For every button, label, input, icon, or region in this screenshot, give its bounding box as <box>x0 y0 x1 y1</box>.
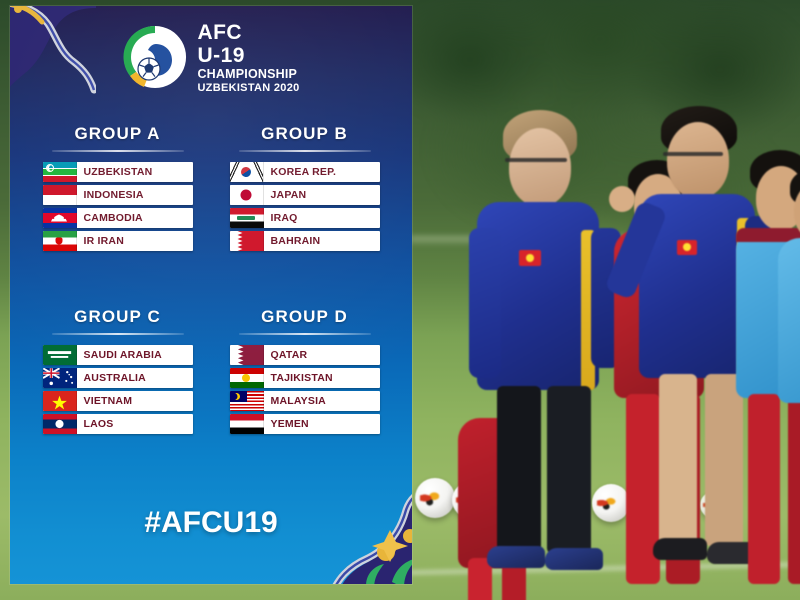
group-d-title: GROUP D <box>261 307 348 327</box>
flag-uzbekistan-icon <box>43 162 77 182</box>
team-name: BAHRAIN <box>264 235 321 247</box>
group-c-title: GROUP C <box>74 307 161 327</box>
screenshot-root: AFC U-19 CHAMPIONSHIP UZBEKISTAN 2020 GR… <box>0 0 800 600</box>
team-name: YEMEN <box>264 418 309 430</box>
group-draw-grid: GROUP A UZBEKISTAN INDONESIA CAMBODIA <box>10 124 412 434</box>
team-row[interactable]: BAHRAIN <box>230 231 380 251</box>
team-row[interactable]: YEMEN <box>230 414 380 434</box>
team-name: SAUDI ARABIA <box>77 349 162 361</box>
flag-cambodia-icon <box>43 208 77 228</box>
flag-malaysia-icon <box>230 391 264 411</box>
group-a-team-list: UZBEKISTAN INDONESIA CAMBODIA IR IRAN <box>43 162 193 251</box>
group-d: GROUP D QATAR TAJIKISTAN MALAYSIA <box>211 307 398 434</box>
team-name: JAPAN <box>264 189 307 201</box>
football <box>415 478 455 518</box>
flag-south-korea-icon <box>230 162 264 182</box>
team-name: KOREA REP. <box>264 166 337 178</box>
team-name: UZBEKISTAN <box>77 166 153 178</box>
group-d-team-list: QATAR TAJIKISTAN MALAYSIA YEMEN <box>230 345 380 434</box>
team-row[interactable]: JAPAN <box>230 185 380 205</box>
team-row[interactable]: QATAR <box>230 345 380 365</box>
team-name: IR IRAN <box>77 235 124 247</box>
flag-japan-icon <box>230 185 264 205</box>
football <box>592 484 630 522</box>
flag-qatar-icon <box>230 345 264 365</box>
team-row[interactable]: VIETNAM <box>43 391 193 411</box>
team-row[interactable]: UZBEKISTAN <box>43 162 193 182</box>
team-row[interactable]: TAJIKISTAN <box>230 368 380 388</box>
logo-line-u19: U-19 <box>197 45 299 66</box>
flag-iraq-icon <box>230 208 264 228</box>
team-name: QATAR <box>264 349 308 361</box>
group-a-title: GROUP A <box>74 124 160 144</box>
afc-u19-emblem-icon <box>122 24 188 90</box>
tournament-logo-text: AFC U-19 CHAMPIONSHIP UZBEKISTAN 2020 <box>197 20 299 94</box>
team-row[interactable]: LAOS <box>43 414 193 434</box>
team-name: AUSTRALIA <box>77 372 146 384</box>
flag-vietnam-icon <box>43 391 77 411</box>
logo-line-afc: AFC <box>197 22 299 43</box>
logo-line-host-year: UZBEKISTAN 2020 <box>197 83 299 94</box>
group-b-team-list: KOREA REP. JAPAN IRAQ BAHRAIN <box>230 162 380 251</box>
team-name: CAMBODIA <box>77 212 143 224</box>
group-b: GROUP B KOREA REP. JAPAN IRAQ <box>211 124 398 251</box>
team-name: LAOS <box>77 418 114 430</box>
flag-laos-icon <box>43 414 77 434</box>
flag-tajikistan-icon <box>230 368 264 388</box>
flag-indonesia-icon <box>43 185 77 205</box>
team-row[interactable]: INDONESIA <box>43 185 193 205</box>
group-a-underline <box>52 150 184 152</box>
group-c-underline <box>52 333 184 335</box>
group-b-title: GROUP B <box>261 124 348 144</box>
flag-saudi-arabia-icon <box>43 345 77 365</box>
group-a: GROUP A UZBEKISTAN INDONESIA CAMBODIA <box>24 124 211 251</box>
group-c-team-list: SAUDI ARABIA <box>43 345 193 434</box>
flag-bahrain-icon <box>230 231 264 251</box>
team-row[interactable]: AUSTRALIA <box>43 368 193 388</box>
flag-australia-icon <box>43 368 77 388</box>
group-c: GROUP C SAUDI ARABIA <box>24 307 211 434</box>
team-name: VIETNAM <box>77 395 133 407</box>
team-name: TAJIKISTAN <box>264 372 333 384</box>
afc-draw-graphic-panel: AFC U-19 CHAMPIONSHIP UZBEKISTAN 2020 GR… <box>10 6 412 584</box>
team-name: INDONESIA <box>77 189 144 201</box>
team-name: MALAYSIA <box>264 395 326 407</box>
campaign-hashtag: #AFCU19 <box>10 506 412 540</box>
team-row[interactable]: IR IRAN <box>43 231 193 251</box>
group-b-underline <box>239 150 371 152</box>
logo-line-championship: CHAMPIONSHIP <box>197 68 299 81</box>
flag-yemen-icon <box>230 414 264 434</box>
tournament-logo: AFC U-19 CHAMPIONSHIP UZBEKISTAN 2020 <box>10 20 412 94</box>
team-row[interactable]: IRAQ <box>230 208 380 228</box>
team-row[interactable]: MALAYSIA <box>230 391 380 411</box>
team-name: IRAQ <box>264 212 298 224</box>
team-row[interactable]: SAUDI ARABIA <box>43 345 193 365</box>
team-row[interactable]: CAMBODIA <box>43 208 193 228</box>
group-d-underline <box>239 333 371 335</box>
team-row[interactable]: KOREA REP. <box>230 162 380 182</box>
flag-iran-icon <box>43 231 77 251</box>
